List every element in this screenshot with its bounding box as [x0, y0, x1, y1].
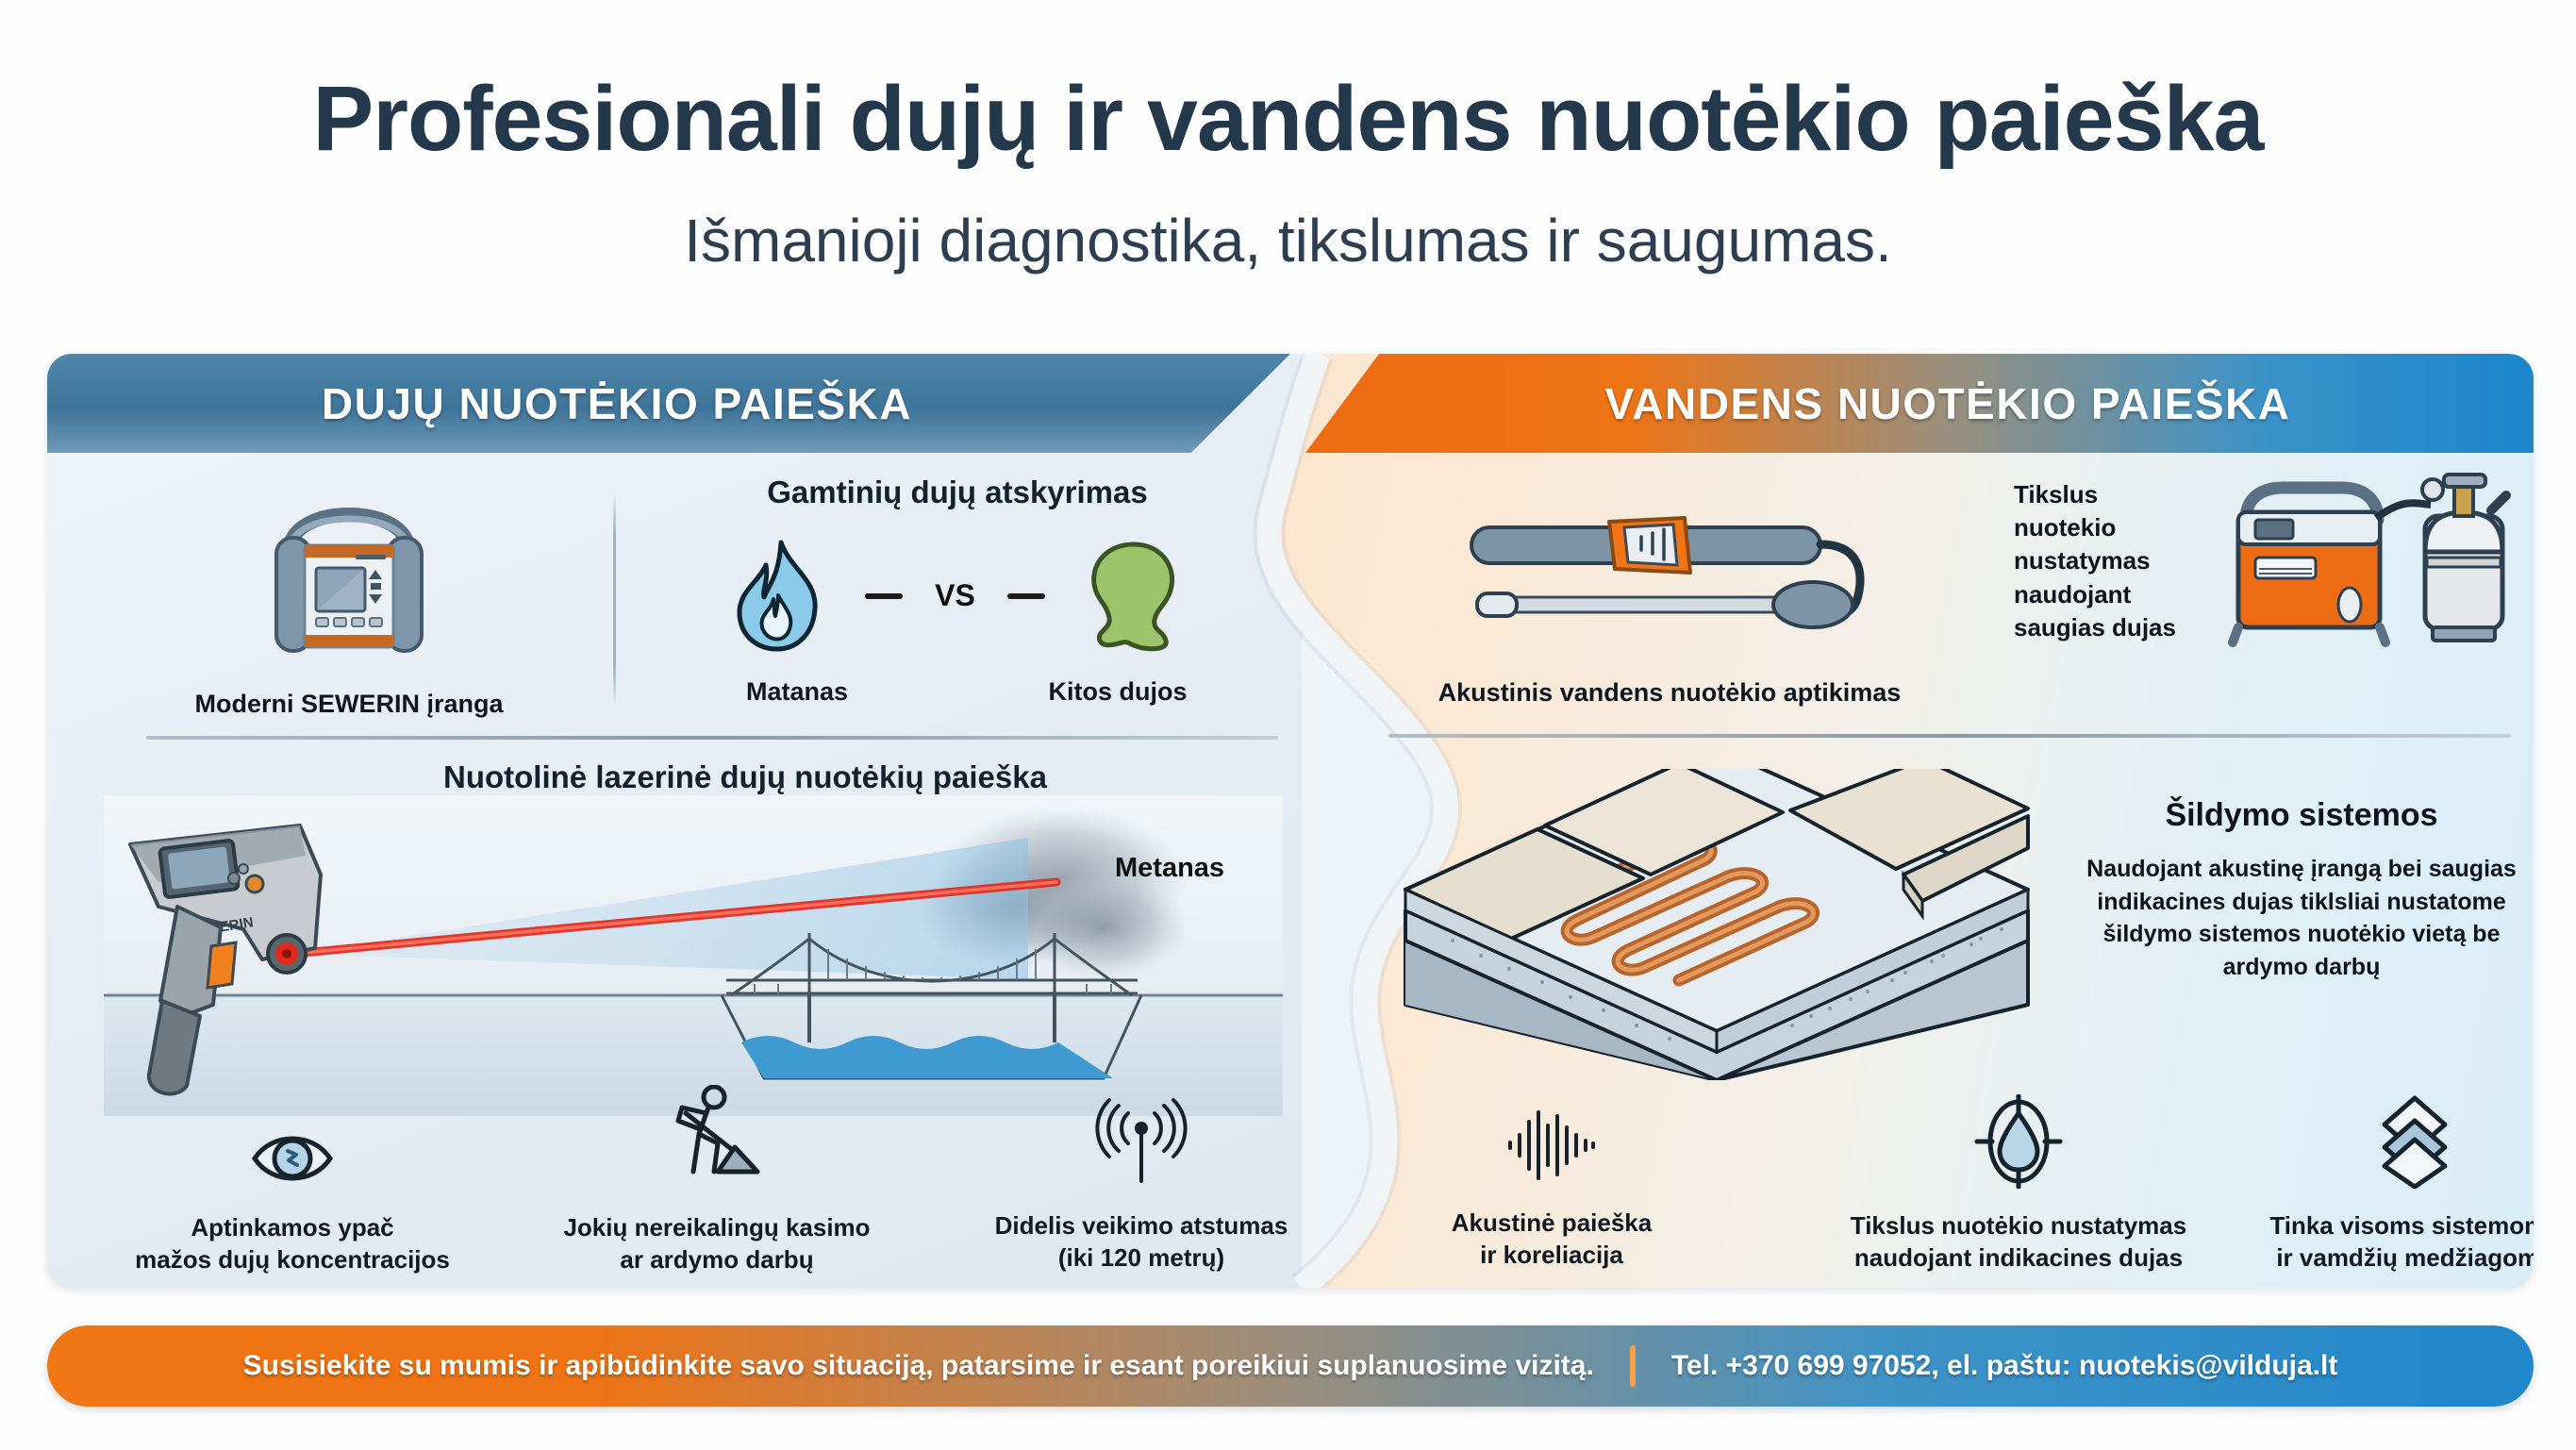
underfloor-heating-block	[1368, 769, 2066, 1090]
droplet-target-icon	[1973, 1094, 2064, 1189]
gas-generator-cylinder-icon	[2218, 467, 2529, 656]
digging-worker-icon	[665, 1085, 769, 1191]
right-panel-header: VANDENS NUOTĖKIO PAIEŠKA	[1305, 354, 2534, 453]
right-feature-2: Tikslus nuotėkio nustatymas naudojant in…	[1811, 1094, 2226, 1275]
gas-right-label: Kitos dujos	[1000, 675, 1236, 708]
acoustic-probe-block: Akustinis vandens nuotėkio aptikimas	[1368, 476, 1971, 709]
contact-separator	[1630, 1345, 1636, 1387]
gas-cloud-icon	[1077, 537, 1190, 655]
sewerin-device-caption: Moderni SEWERIN įranga	[104, 688, 594, 721]
vs-dash-right	[1007, 593, 1045, 599]
left-feature-2: Jokių nereikalingų kasimo ar ardymo darb…	[528, 1085, 906, 1276]
heating-systems-title: Šildymo sistemos	[2066, 797, 2534, 834]
left-feature-1: Aptinkamos ypač mažos dujų koncentracijo…	[132, 1104, 453, 1276]
left-feature-1-label: Aptinkamos ypač mažos dujų koncentracijo…	[135, 1211, 450, 1276]
right-feature-2-label: Tikslus nuotėkio nustatymas naudojant in…	[1851, 1209, 2186, 1275]
flame-icon	[724, 537, 833, 655]
heating-systems-block: Šildymo sistemos Naudojant akustinę įran…	[2066, 797, 2534, 983]
right-feature-3-label: Tinka visoms sistemoms ir vamdžių medžia…	[2269, 1209, 2534, 1275]
laser-illustration: SEWERIN Metanas	[104, 795, 1283, 1116]
eye-icon	[249, 1104, 336, 1191]
vs-dash-left	[865, 593, 903, 599]
left-section-divider	[146, 736, 1278, 740]
signal-waves-icon	[1092, 1094, 1191, 1189]
main-card: DUJŲ NUOTĖKIO PAIEŠKA VANDENS NUOTĖKIO P…	[47, 354, 2534, 1288]
left-feature-3: Didelis veikimo atstumas (iki 120 metrų)	[953, 1094, 1330, 1275]
right-panel-header-label: VANDENS NUOTĖKIO PAIEŠKA	[1605, 378, 2291, 429]
safe-gas-block: Tikslus nuotekio nustatymas naudojant sa…	[2014, 467, 2534, 656]
contact-message: Susisiekite su mumis ir apibūdinkite sav…	[243, 1350, 1594, 1382]
infographic-page: Profesionali dujų ir vandens nuotėkio pa…	[0, 0, 2576, 1450]
page-title: Profesionali dujų ir vandens nuotėkio pa…	[0, 66, 2576, 172]
right-section-divider	[1388, 734, 2511, 738]
acoustic-probe-caption: Akustinis vandens nuotėkio aptikimas	[1368, 676, 1971, 709]
left-panel-header: DUJŲ NUOTĖKIO PAIEŠKA	[47, 354, 1290, 453]
heating-systems-body: Naudojant akustinę įrangą bei saugias in…	[2066, 853, 2534, 983]
contact-bar[interactable]: Susisiekite su mumis ir apibūdinkite sav…	[47, 1325, 2534, 1407]
waveform-icon	[1503, 1099, 1601, 1186]
laser-section-title: Nuotolinė lazerinė dujų nuotėkių paieška	[208, 759, 1283, 795]
acoustic-probe-icon	[1453, 505, 1886, 637]
layers-icon	[2368, 1094, 2462, 1189]
safe-gas-note: Tikslus nuotekio nustatymas naudojant sa…	[2014, 478, 2202, 643]
right-feature-3: Tinka visoms sistemoms ir vamdžių medžia…	[2245, 1094, 2534, 1275]
gas-left-label: Matanas	[679, 675, 915, 708]
gas-detector-icon	[250, 479, 448, 673]
gas-separation-block: Gamtinių dujų atskyrimas VS Matanas Kito…	[651, 475, 1264, 708]
left-panel-header-label: DUJŲ NUOTĖKIO PAIEŠKA	[322, 378, 912, 429]
page-subtitle: Išmanioji diagnostika, tikslumas ir saug…	[0, 206, 2576, 275]
gas-separation-title: Gamtinių dujų atskyrimas	[651, 475, 1264, 510]
laser-scene-block: Nuotolinė lazerinė dujų nuotėkių paieška	[104, 759, 1283, 1127]
right-feature-1-label: Akustinė paieška ir koreliacija	[1452, 1207, 1652, 1272]
left-vertical-divider	[613, 493, 616, 707]
contact-details[interactable]: Tel. +370 699 97052, el. paštu: nuotekis…	[1671, 1350, 2338, 1382]
right-feature-1: Akustinė paieška ir koreliacija	[1396, 1099, 1707, 1272]
left-feature-3-label: Didelis veikimo atstumas (iki 120 metrų)	[995, 1209, 1288, 1275]
underfloor-heating-icon	[1368, 769, 2066, 1080]
left-feature-2-label: Jokių nereikalingų kasimo ar ardymo darb…	[563, 1211, 870, 1276]
sewerin-device-block: Moderni SEWERIN įranga	[104, 476, 594, 721]
methane-plume-label: Metanas	[1115, 853, 1224, 883]
vs-label: VS	[935, 578, 975, 613]
